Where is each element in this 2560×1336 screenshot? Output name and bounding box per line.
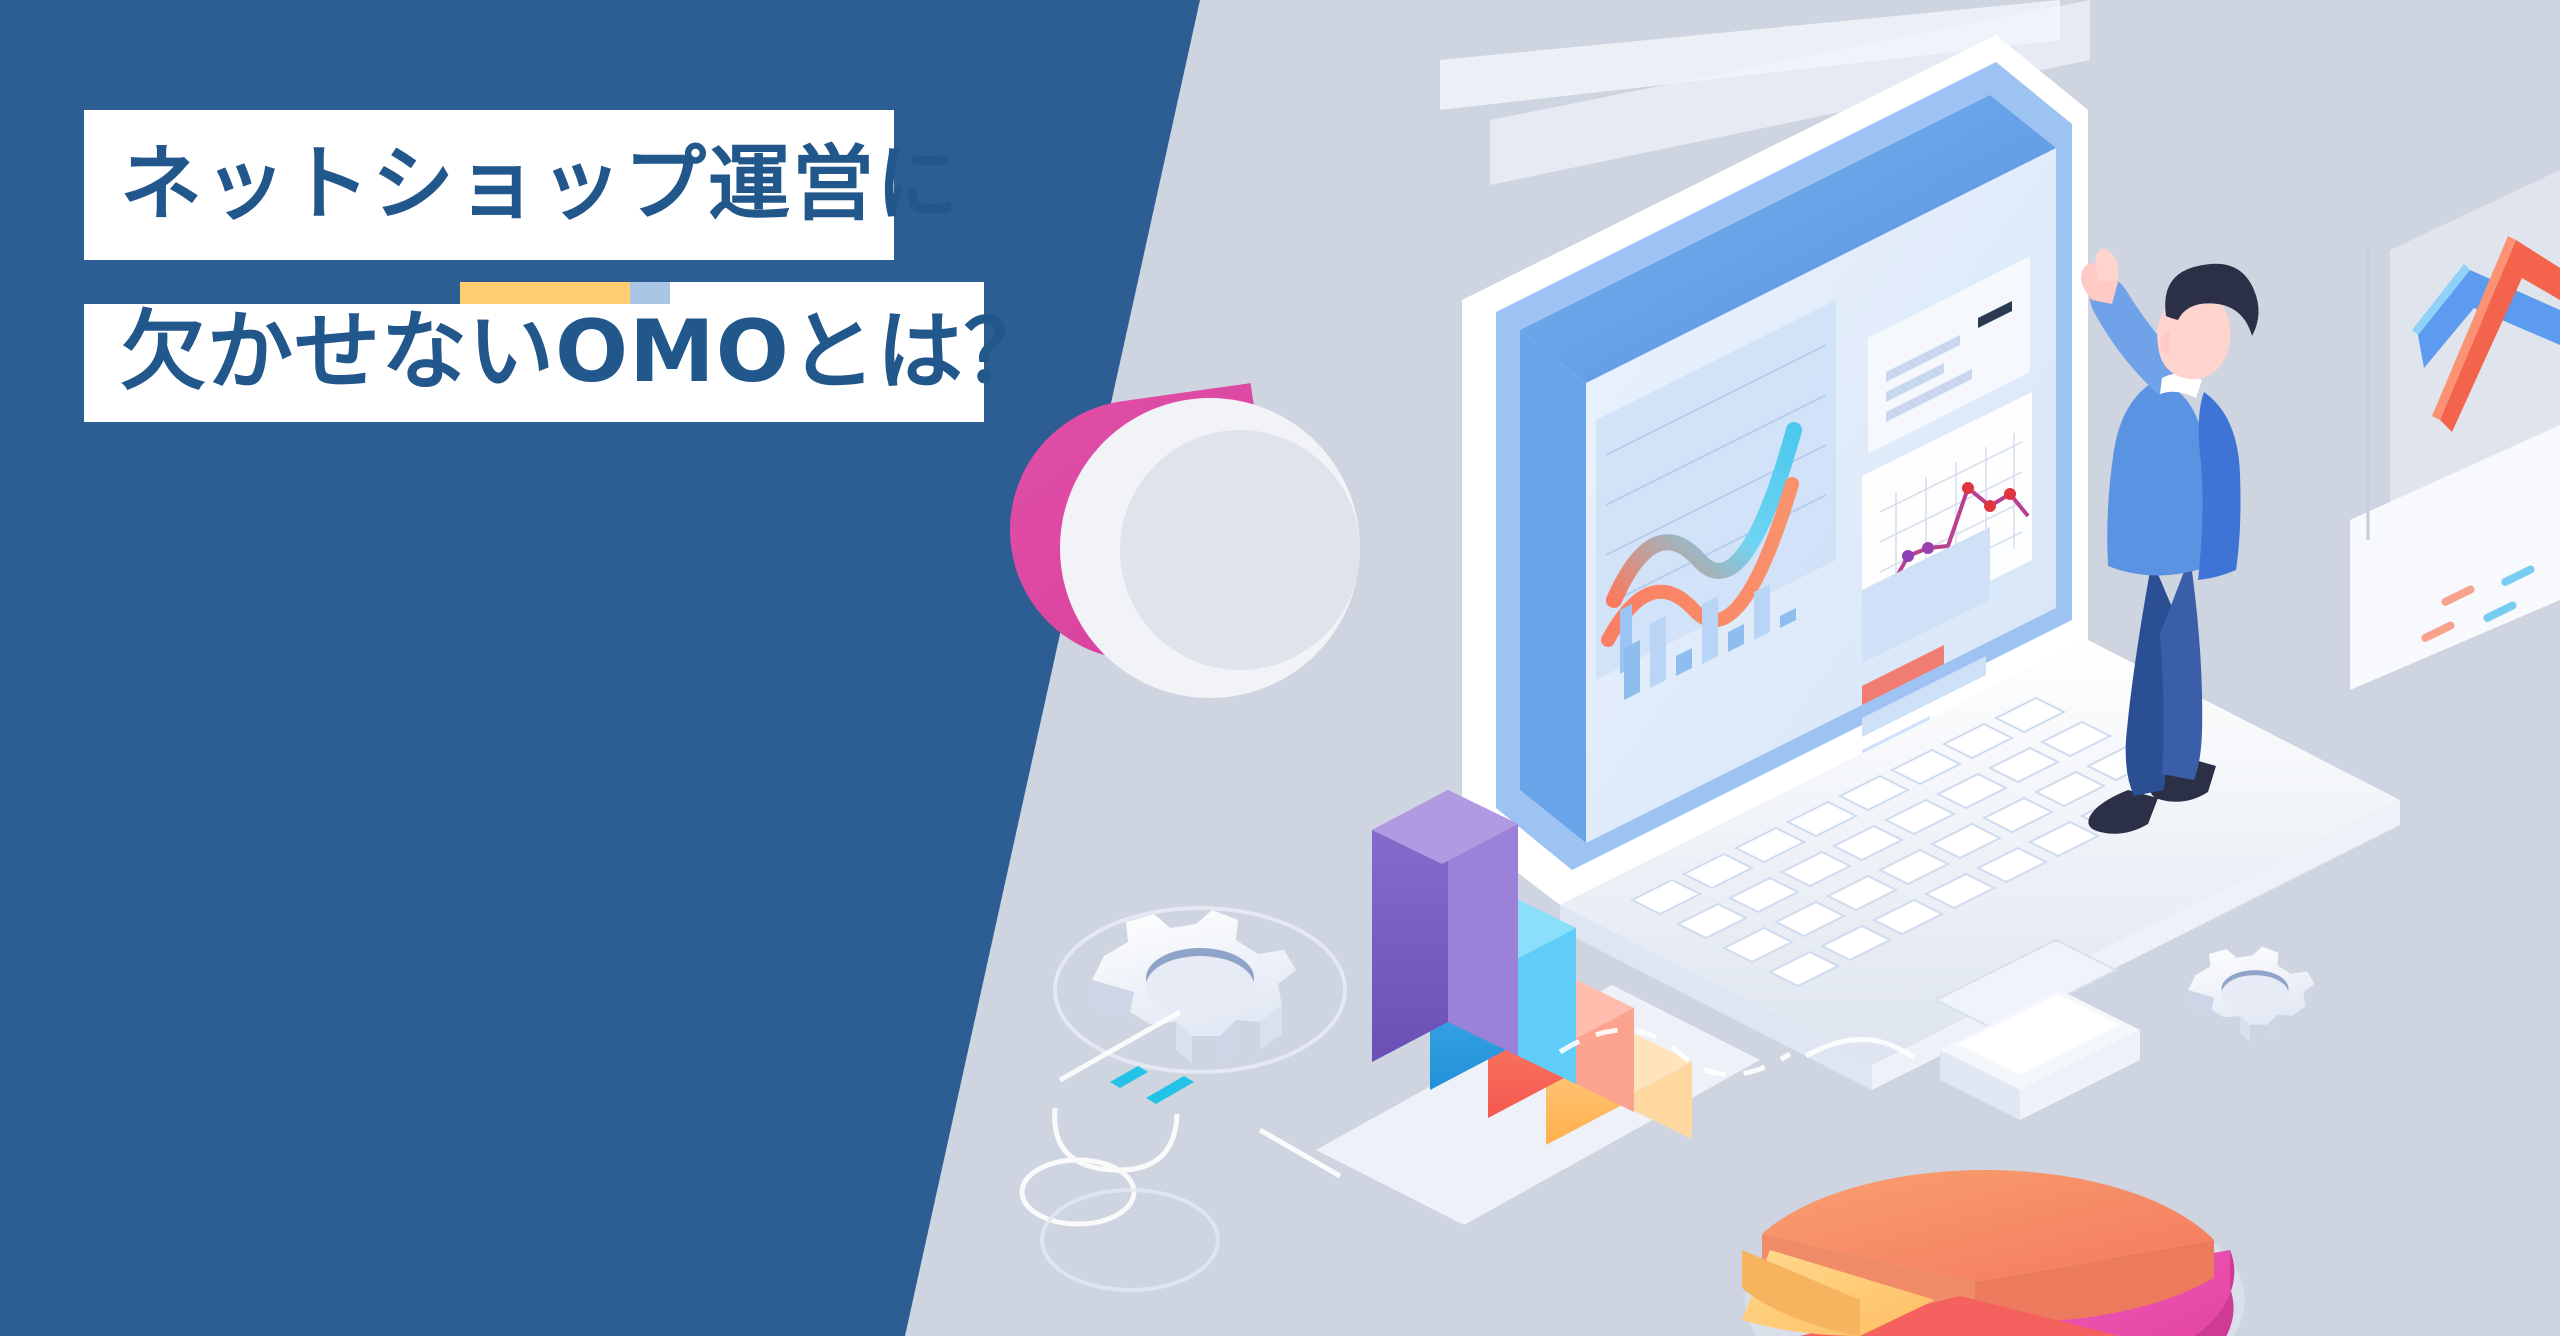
hero-banner: ネットショップ運営に 欠かせないOMOとは？ — [0, 0, 2560, 1336]
accent-bar — [84, 282, 670, 304]
title-line2-text: 欠かせないOMOとは？ — [120, 309, 1051, 395]
title-block: ネットショップ運営に 欠かせないOMOとは？ — [0, 110, 984, 422]
pie-chart-3d — [1742, 1170, 2245, 1336]
floating-line-chart-card — [2350, 170, 2560, 690]
gear-large — [1055, 908, 1345, 1072]
title-line1-text: ネットショップ運営に — [120, 144, 960, 226]
title-line1-box: ネットショップ運営に — [84, 110, 894, 260]
gear-small — [2188, 947, 2314, 1042]
accent-segment-yellow — [460, 282, 630, 304]
accent-segment-lightblue — [630, 282, 670, 304]
accent-segment-blue — [84, 282, 460, 304]
